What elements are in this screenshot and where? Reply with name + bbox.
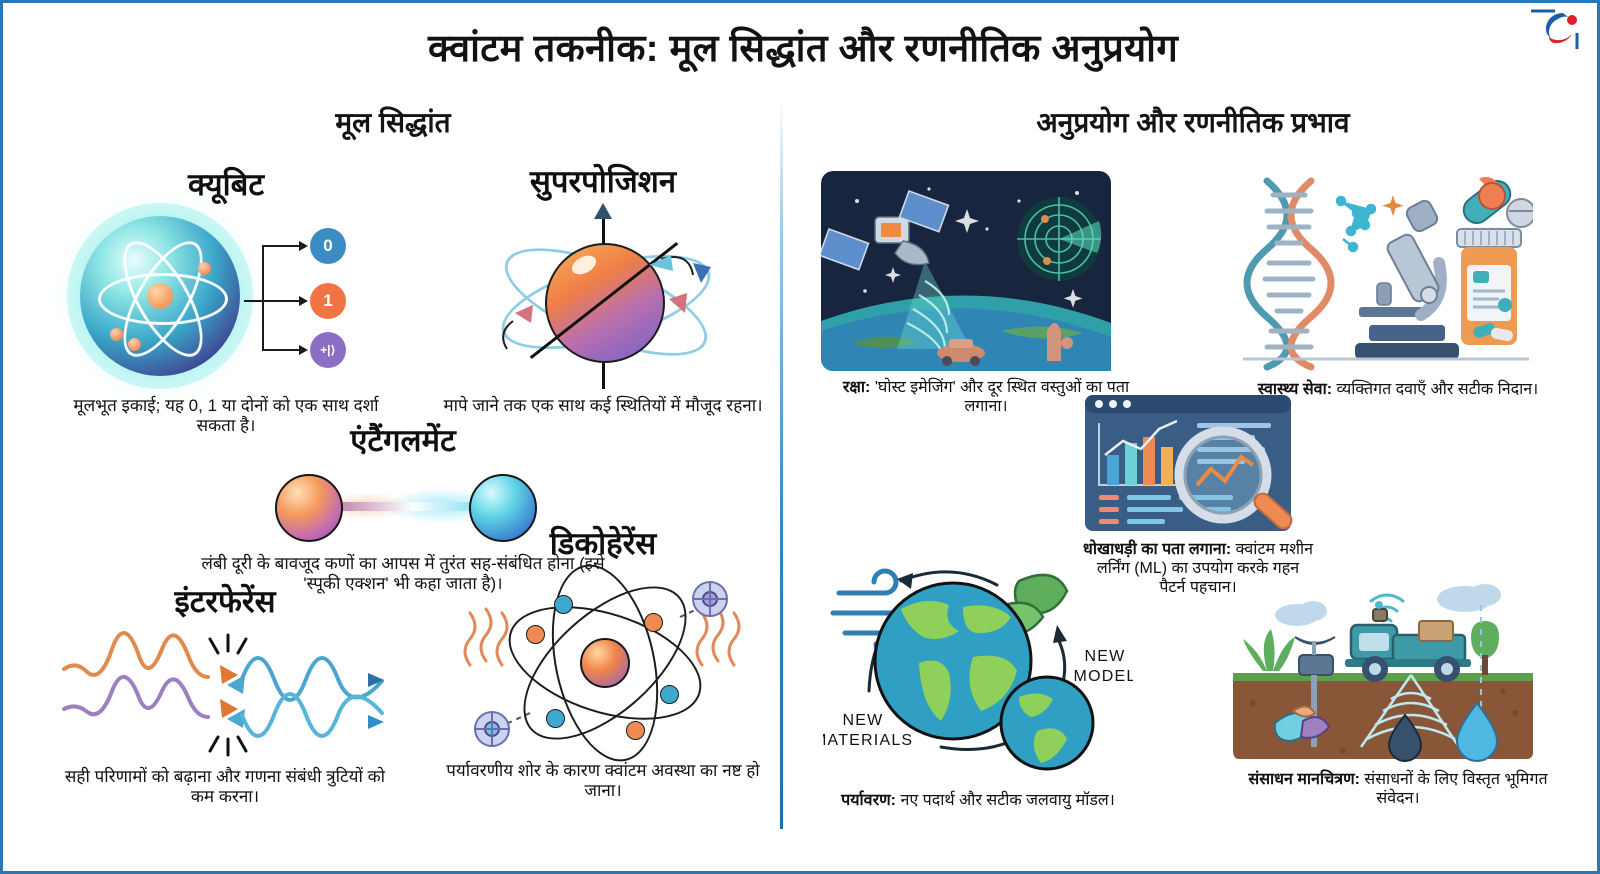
application-card-resources: संसाधन मानचित्रण: संसाधनों के लिए विस्तृ…: [1233, 563, 1563, 808]
escaping-molecule-icon: [475, 712, 509, 746]
principle-card-interference: इंटरफेरेंस सही परिणामों को बढ़ाना और गणन…: [55, 586, 395, 807]
principle-card-decoherence: डिकोहेरेंस: [433, 528, 773, 801]
infographic-page: क्वांटम तकनीक: मूल सिद्धांत और रणनीतिक अ…: [0, 0, 1600, 874]
truck-subsurface-sensing-icon: [1233, 563, 1563, 763]
healthcare-text: व्यक्तिगत दवाएँ और सटीक निदान।: [1332, 381, 1538, 398]
escaping-molecule-icon: [693, 582, 727, 616]
satellite-radar-earth-icon: [821, 171, 1151, 371]
interference-caption: सही परिणामों को बढ़ाना और गणना संबंधी त्…: [55, 767, 395, 807]
qubit-sphere-icon: [80, 216, 240, 376]
application-card-defence: रक्षा: 'घोस्ट इमेजिंग' और दूर स्थित वस्त…: [821, 171, 1151, 416]
decoherence-illustration: [448, 561, 758, 761]
environment-label: पर्यावरण:: [841, 792, 896, 809]
defence-label: रक्षा:: [843, 379, 871, 396]
superposition-illustration: [453, 201, 753, 396]
resources-caption: संसाधन मानचित्रण: संसाधनों के लिए विस्तृ…: [1233, 770, 1563, 808]
principle-card-superposition: सुपरपोजिशन मापे जाने तक एक साथ कई स्थिति…: [433, 166, 773, 416]
section-heading-principles: मूल सिद्धांत: [113, 103, 673, 141]
globe-wind-leaf-icon: NEW MATERIALS NEW MODEL: [823, 551, 1133, 781]
entangled-particle-left: [275, 474, 343, 542]
dna-helix-icon: [1247, 181, 1331, 367]
molecule-icon: [1337, 197, 1375, 251]
resources-label: संसाधन मानचित्रण:: [1248, 771, 1360, 788]
decoherence-title: डिकोहेरेंस: [433, 528, 773, 559]
resources-text: संसाधनों के लिए विस्तृत भूमिगत संवेदन।: [1360, 771, 1548, 807]
env-annotation-new-materials: NEW MATERIALS: [823, 711, 913, 751]
plant-icon: [1243, 629, 1295, 671]
qubit-state-1: 1: [310, 283, 346, 319]
environment-caption: पर्यावरण: नए पदार्थ और सटीक जलवायु मॉडल।: [823, 791, 1133, 810]
tree-icon: [1471, 621, 1499, 675]
vertical-divider: [780, 99, 783, 829]
dashboard-magnifier-icon: [1083, 393, 1313, 533]
interference-illustration: [60, 617, 390, 767]
superposition-arrows-icon: [453, 201, 753, 396]
environment-text: नए पदार्थ और सटीक जलवायु मॉडल।: [896, 792, 1115, 809]
qubit-state-superposed: +|⟩: [310, 332, 346, 368]
globe-small-icon: [1001, 677, 1093, 769]
env-annotation-new-model: NEW MODEL: [1065, 647, 1133, 687]
application-card-environment: NEW MATERIALS NEW MODEL पर्यावरण: नए पदा…: [823, 551, 1133, 810]
dna-microscope-pills-icon: [1233, 173, 1563, 373]
decoherence-caption: पर्यावरणीय शोर के कारण क्वांटम अवस्था का…: [433, 761, 773, 801]
pickup-truck-icon: [1345, 601, 1471, 682]
radar-icon: [1017, 197, 1101, 281]
superposition-title: सुपरपोजिशन: [433, 166, 773, 197]
wave-interference-icon: [60, 617, 390, 767]
qubit-illustration: 0 1 +|⟩: [66, 206, 386, 396]
pill-icon: [1459, 176, 1533, 229]
superposition-caption: मापे जाने तक एक साथ कई स्थितियों में मौज…: [433, 396, 773, 416]
microscope-icon: [1355, 198, 1459, 359]
entanglement-title: एंटैंगलमेंट: [193, 425, 613, 456]
medicine-bottle-icon: [1457, 229, 1521, 345]
application-card-healthcare: स्वास्थ्य सेवा: व्यक्तिगत दवाएँ और सटीक …: [1233, 173, 1563, 399]
interference-title: इंटरफेरेंस: [55, 586, 395, 617]
section-heading-applications: अनुप्रयोग और रणनीतिक प्रभाव: [803, 103, 1583, 141]
qubit-title: क्यूबिट: [61, 169, 391, 200]
principle-card-qubit: क्यूबिट 0 1 +|⟩: [61, 169, 391, 436]
qubit-state-0: 0: [310, 228, 346, 264]
page-title: क्वांटम तकनीक: मूल सिद्धांत और रणनीतिक अ…: [3, 21, 1600, 73]
